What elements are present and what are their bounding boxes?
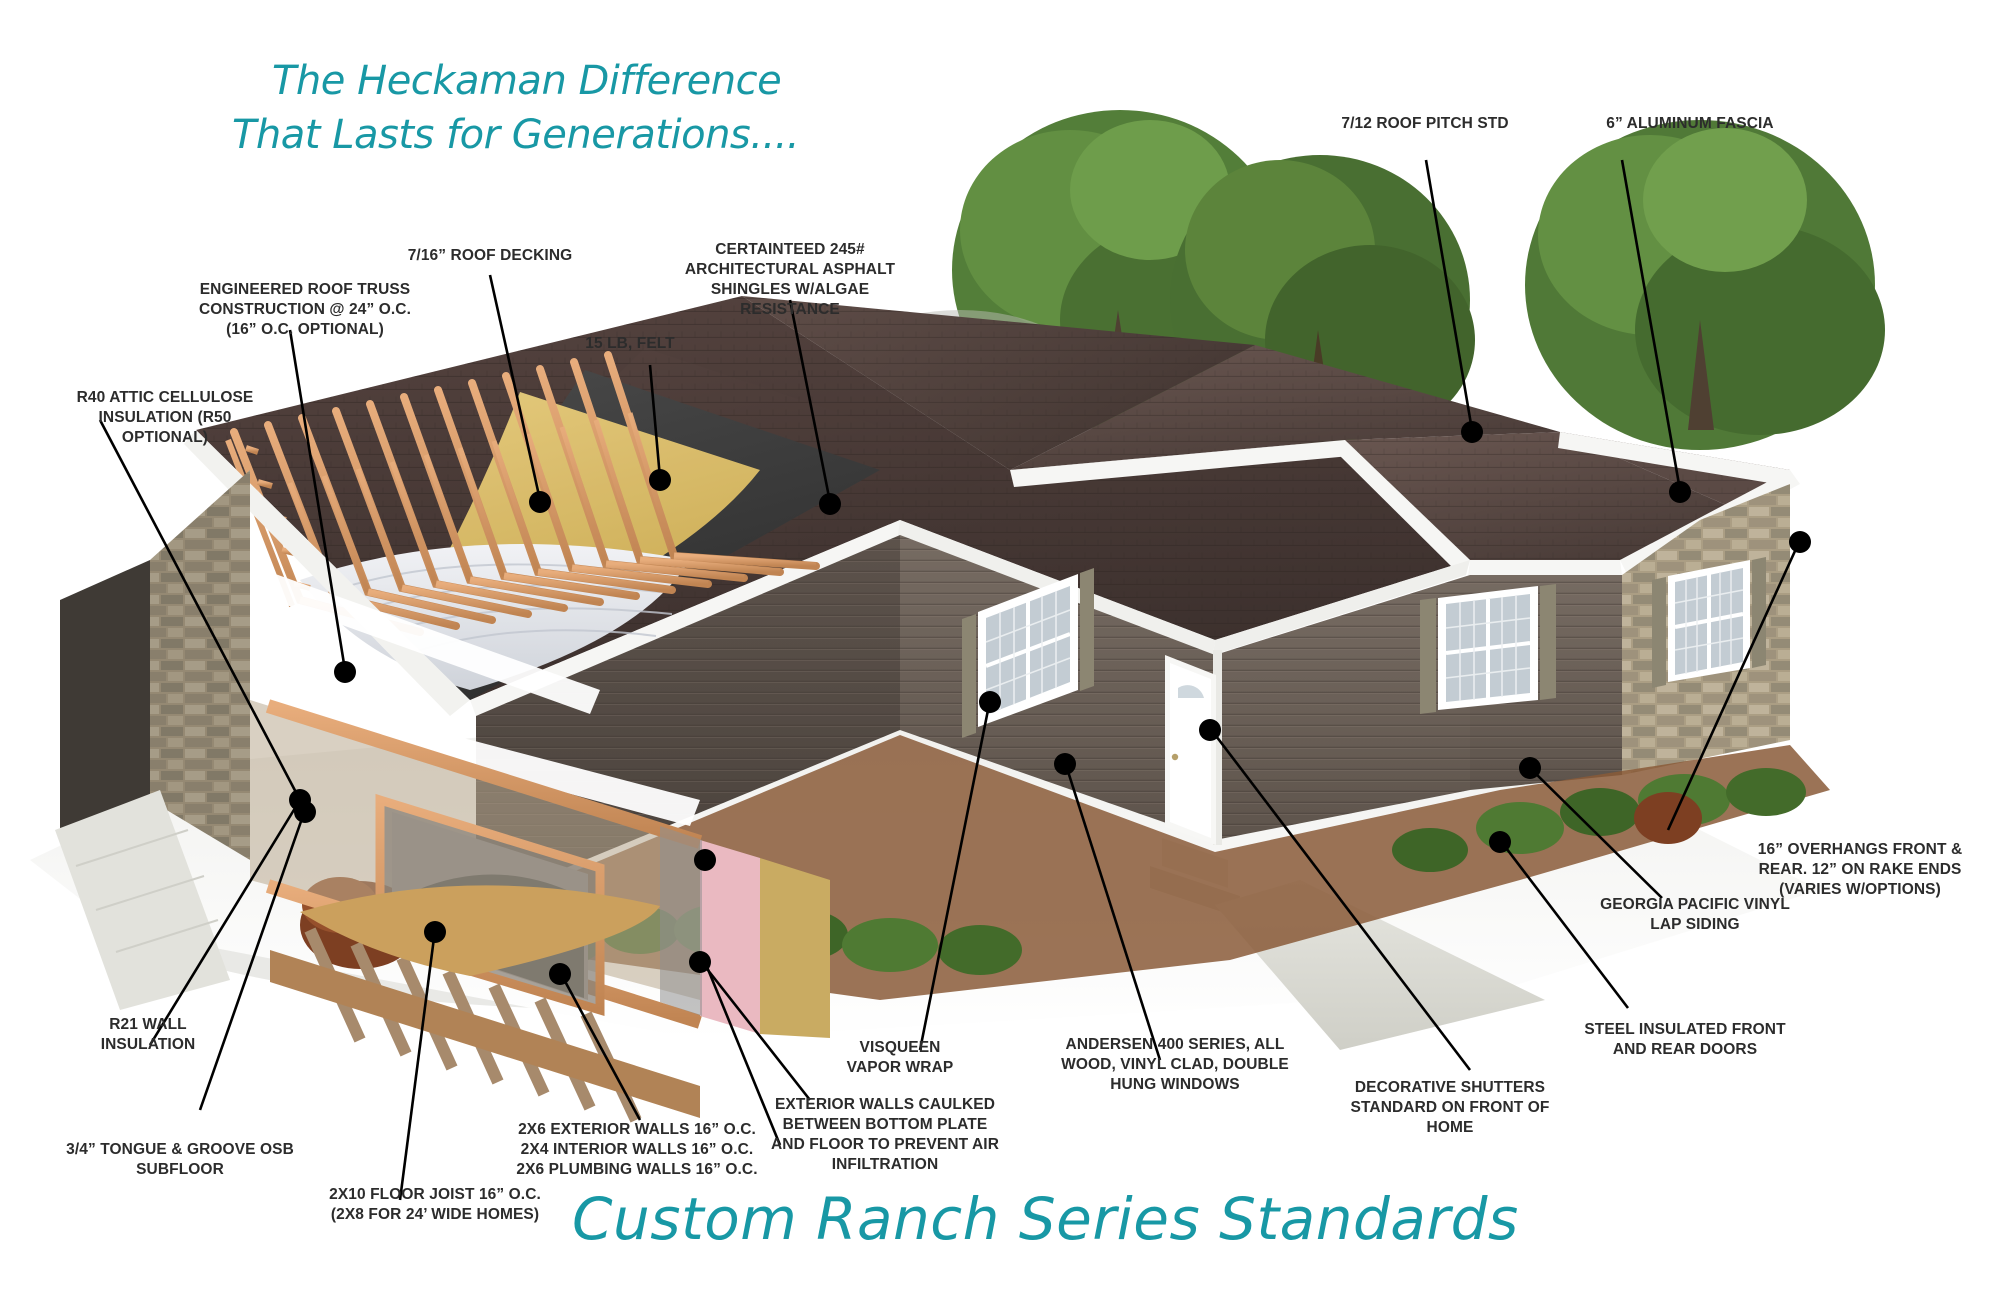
headline-line-2: That Lasts for Generations.... [232, 112, 799, 158]
callout-shutters: DECORATIVE SHUTTERS STANDARD ON FRONT OF… [1320, 1078, 1580, 1138]
callout-roof-decking: 7/16” ROOF DECKING [340, 246, 640, 266]
callout-shingles: CERTAINTEED 245# ARCHITECTURAL ASPHALT S… [660, 240, 920, 321]
callout-windows: ANDERSEN 400 SERIES, ALL WOOD, VINYL CLA… [1040, 1035, 1310, 1095]
callout-siding: GEORGIA PACIFIC VINYL LAP SIDING [1560, 895, 1830, 935]
callout-overhangs: 16” OVERHANGS FRONT & REAR. 12” ON RAKE … [1740, 840, 1980, 900]
callout-floor-joist: 2X10 FLOOR JOIST 16” O.C. (2X8 FOR 24’ W… [290, 1185, 580, 1225]
footer-title: Custom Ranch Series Standards [572, 1185, 1519, 1253]
callout-aluminum-fascia: 6” ALUMINUM FASCIA [1540, 114, 1840, 134]
diagram-canvas: The Heckaman Difference That Lasts for G… [0, 0, 2000, 1294]
callout-caulking: EXTERIOR WALLS CAULKED BETWEEN BOTTOM PL… [760, 1095, 1010, 1176]
callout-subfloor: 3/4” TONGUE & GROOVE OSB SUBFLOOR [40, 1140, 320, 1180]
callout-vapor-wrap: VISQUEEN VAPOR WRAP [800, 1038, 1000, 1078]
headline-line-1: The Heckaman Difference [272, 58, 781, 104]
callout-felt: 15 LB, FELT [540, 334, 720, 354]
callout-roof-truss: ENGINEERED ROOF TRUSS CONSTRUCTION @ 24”… [160, 280, 450, 340]
callout-wall-insulation: R21 WALL INSULATION [48, 1015, 248, 1055]
callout-wall-studs: 2X6 EXTERIOR WALLS 16” O.C. 2X4 INTERIOR… [512, 1120, 762, 1180]
callout-roof-pitch: 7/12 ROOF PITCH STD [1280, 114, 1570, 134]
callout-attic-insulation: R40 ATTIC CELLULOSE INSULATION (R50 OPTI… [50, 388, 280, 448]
callout-doors: STEEL INSULATED FRONT AND REAR DOORS [1550, 1020, 1820, 1060]
